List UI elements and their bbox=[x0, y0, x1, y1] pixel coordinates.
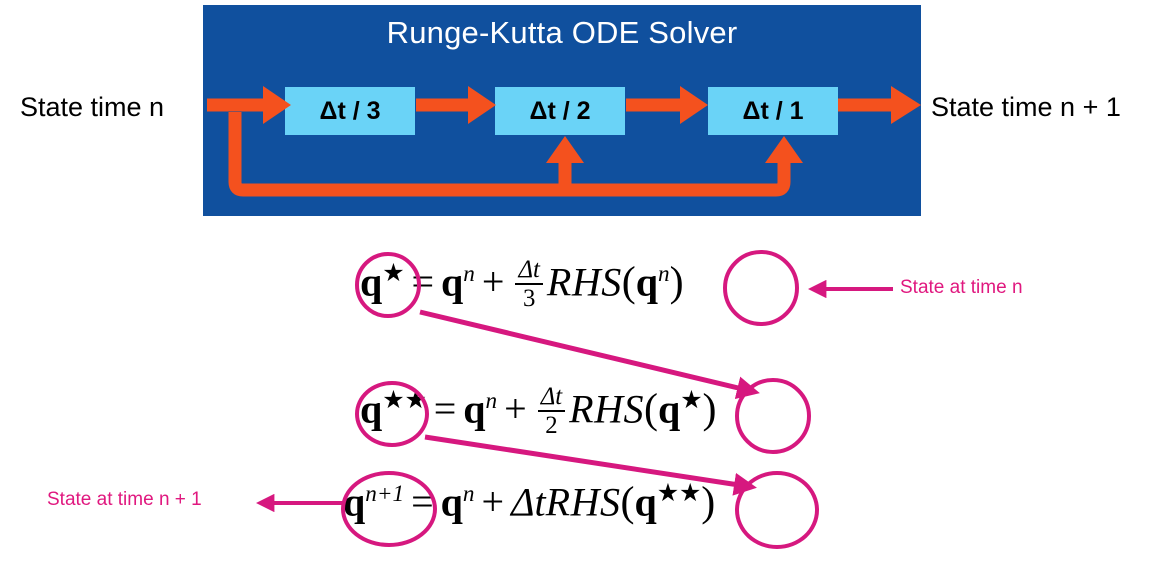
eq2-fraction: Δt2 bbox=[538, 384, 565, 439]
circle-eq2-arg bbox=[735, 378, 811, 454]
eq3-term-q: q bbox=[441, 479, 463, 524]
eq1-plus: + bbox=[475, 259, 512, 304]
eq1-rhs-operator: RHS bbox=[547, 259, 622, 304]
input-state-label: State time n bbox=[20, 92, 164, 123]
diagram-root: Runge-Kutta ODE Solver Δt / 3 Δt / 2 Δt … bbox=[0, 0, 1170, 569]
eq2-term-q: q bbox=[463, 386, 485, 431]
circle-eq1-lhs bbox=[355, 252, 421, 318]
stage-box-dt3[interactable]: Δt / 3 bbox=[285, 87, 415, 135]
eq1-term-q: q bbox=[441, 259, 463, 304]
solver-panel: Runge-Kutta ODE Solver Δt / 3 Δt / 2 Δt … bbox=[203, 5, 921, 216]
annotation-state-at-time-n: State at time n bbox=[900, 277, 1023, 299]
circle-eq3-arg bbox=[735, 471, 819, 549]
flow-arrow-qstar bbox=[420, 312, 755, 392]
annotation-state-at-time-n-plus-1: State at time n + 1 bbox=[47, 489, 202, 511]
eq3-plus: + bbox=[475, 479, 512, 524]
output-state-label: State time n + 1 bbox=[931, 92, 1121, 123]
eq3-arg: q bbox=[634, 479, 656, 524]
eq2-paren-open: ( bbox=[644, 386, 658, 432]
eq3-rhs-operator: RHS bbox=[546, 479, 621, 524]
eq2-frac-denominator: 2 bbox=[538, 412, 565, 439]
stage-box-dt1[interactable]: Δt / 1 bbox=[708, 87, 838, 135]
solver-title: Runge-Kutta ODE Solver bbox=[203, 15, 921, 51]
eq3-term-q-sup: n bbox=[463, 481, 475, 507]
eq1-fraction: Δt3 bbox=[515, 257, 542, 312]
circle-eq2-lhs bbox=[355, 381, 429, 447]
eq1-term-q-sup: n bbox=[463, 261, 475, 287]
circle-eq1-arg bbox=[723, 250, 799, 326]
eq2-equals: = bbox=[427, 386, 464, 431]
circle-eq3-lhs bbox=[341, 471, 437, 547]
eq1-frac-numerator: Δt bbox=[515, 257, 542, 286]
eq2-arg-sup: ★ bbox=[680, 387, 702, 414]
eq1-paren-open: ( bbox=[622, 259, 636, 305]
eq1-frac-denominator: 3 bbox=[515, 285, 542, 312]
eq2-term-q-sup: n bbox=[486, 388, 498, 414]
stage-label: Δt / 2 bbox=[529, 97, 590, 126]
eq2-paren-close: ) bbox=[702, 386, 716, 432]
eq1-arg-sup: n bbox=[658, 261, 670, 287]
stage-label: Δt / 1 bbox=[742, 97, 803, 126]
eq2-frac-numerator: Δt bbox=[538, 384, 565, 413]
stage-label: Δt / 3 bbox=[319, 97, 380, 126]
eq1-arg: q bbox=[636, 259, 658, 304]
eq3-paren-close: ) bbox=[701, 479, 715, 525]
stage-box-dt2[interactable]: Δt / 2 bbox=[495, 87, 625, 135]
eq3-paren-open: ( bbox=[620, 479, 634, 525]
eq2-plus: + bbox=[497, 386, 534, 431]
eq2-arg: q bbox=[658, 386, 680, 431]
eq3-dt: Δt bbox=[511, 479, 546, 524]
eq3-arg-sup: ★★ bbox=[657, 480, 701, 507]
eq1-paren-close: ) bbox=[670, 259, 684, 305]
eq2-rhs-operator: RHS bbox=[569, 386, 644, 431]
